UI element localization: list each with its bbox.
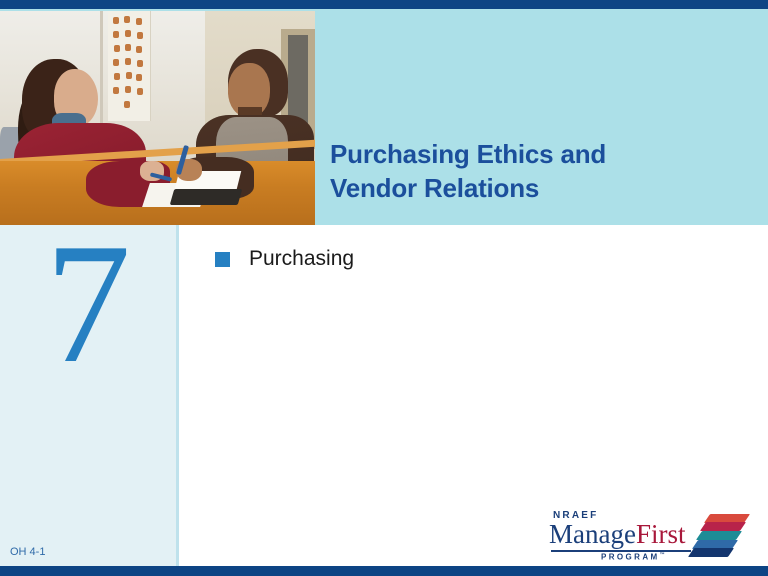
photo-clipboard	[170, 189, 243, 205]
bottom-accent-bar	[0, 566, 768, 576]
logo-brand-name: ManageFirst	[549, 521, 686, 548]
logo-brand-part-1: Manage	[549, 519, 636, 549]
logo-program-text: PROGRAM	[601, 553, 660, 562]
photo-wall-poster	[108, 11, 151, 121]
logo-brand-part-2: First	[636, 519, 686, 549]
header-photo	[0, 11, 315, 225]
top-accent-bar	[0, 0, 768, 9]
chapter-number: 7	[0, 218, 176, 390]
logo-trademark: ™	[660, 552, 665, 558]
logo-program-label: PROGRAM™	[601, 552, 665, 562]
square-bullet-icon	[215, 252, 230, 267]
slide-title-line-1: Purchasing Ethics and	[330, 138, 730, 172]
slide-title-line-2: Vendor Relations	[330, 172, 730, 206]
stacked-stripes-icon	[693, 512, 747, 558]
slide-title: Purchasing Ethics and Vendor Relations	[330, 138, 730, 206]
list-item: Purchasing	[215, 247, 354, 271]
presentation-slide: Purchasing Ethics and Vendor Relations 7…	[0, 0, 768, 576]
brand-logo: NRAEF ManageFirst PROGRAM™	[545, 510, 745, 562]
list-item-label: Purchasing	[249, 247, 354, 271]
slide-code: OH 4-1	[10, 546, 45, 558]
